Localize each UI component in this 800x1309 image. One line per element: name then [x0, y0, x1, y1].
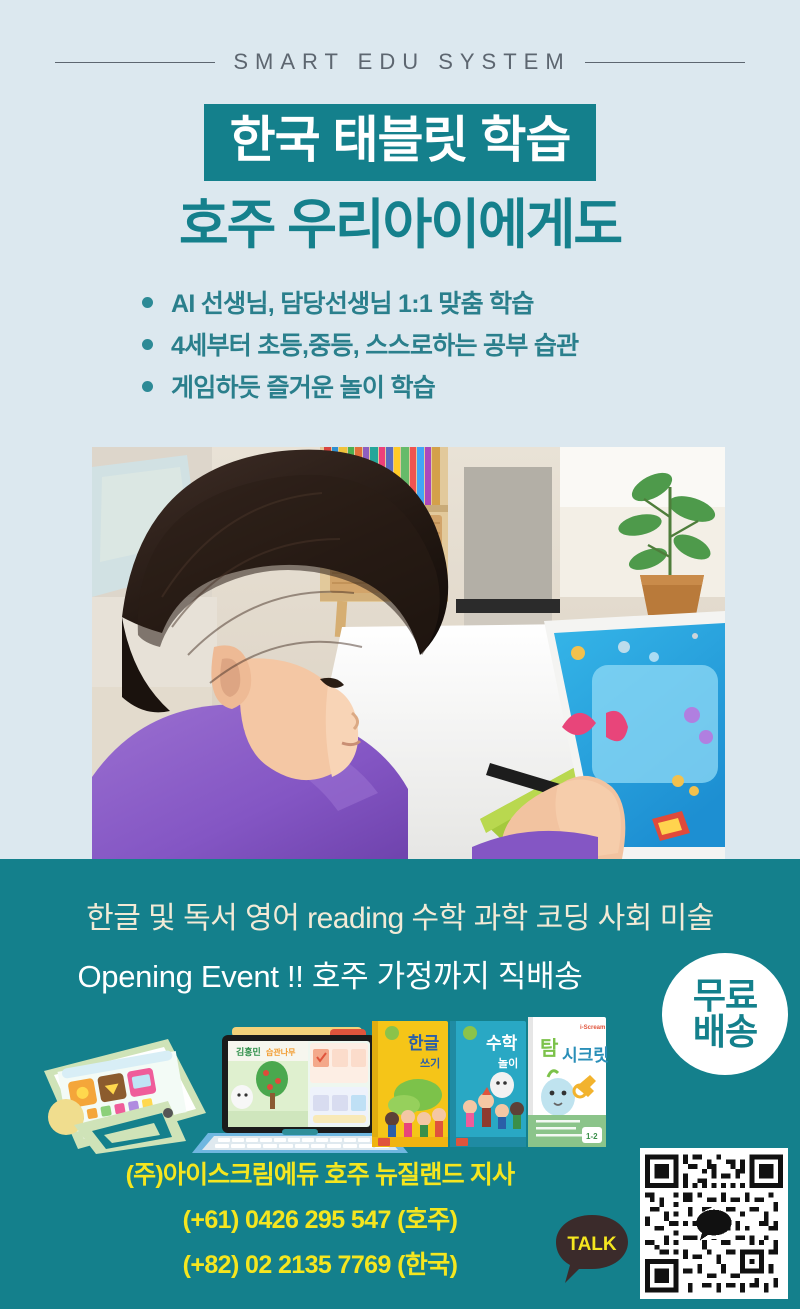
eyebrow-rule-left: [55, 62, 215, 63]
feature-bullet-list: AI 선생님, 담당선생님 1:1 맞춤 학습 4세부터 초등,중등, 스스로하…: [142, 288, 742, 414]
list-item: 게임하듯 즐거운 놀이 학습: [142, 372, 742, 404]
svg-text:탐: 탐: [540, 1037, 559, 1060]
bullet-dot-icon: [142, 297, 153, 308]
phone-kr[interactable]: (+82) 02 2135 7769 (한국): [0, 1245, 640, 1281]
kakaotalk-bubble-shape: TALK: [553, 1211, 631, 1285]
list-item: 4세부터 초등,중등, 스스로하는 공부 습관: [142, 330, 742, 362]
eyebrow-rule-right: [585, 62, 745, 63]
subjects-label: 한글 및 독서 영어 reading 수학 과학 코딩 사회 미술: [0, 893, 800, 937]
svg-text:i-Scream: i-Scream: [580, 1025, 605, 1031]
hero-photo-illustration: [92, 447, 725, 859]
svg-text:김홍민: 김홍민: [236, 1046, 261, 1057]
eyebrow-label: SMART EDU SYSTEM: [229, 49, 570, 75]
phone-au[interactable]: (+61) 0426 295 547 (호주): [0, 1200, 640, 1236]
hero-photo: [92, 447, 725, 859]
qr-code[interactable]: [640, 1148, 788, 1299]
list-item: AI 선생님, 담당선생님 1:1 맞춤 학습: [142, 288, 742, 320]
headline-boxed: 한국 태블릿 학습: [204, 104, 597, 181]
qr-code-matrix: [645, 1153, 783, 1294]
svg-text:수학: 수학: [486, 1034, 518, 1053]
svg-text:습관나무: 습관나무: [266, 1047, 296, 1057]
workbook-secret: i-Scream 탐 시크릿: [528, 1017, 609, 1147]
company-name: (주)아이스크림에듀 호주 뉴질랜드 지사: [0, 1155, 640, 1191]
headline-plain: 호주 우리아이에게도: [0, 197, 800, 254]
bullet-label: AI 선생님, 담당선생님 1:1 맞춤 학습: [171, 288, 534, 320]
svg-text:놀이: 놀이: [498, 1056, 518, 1070]
kakaotalk-icon[interactable]: TALK: [553, 1211, 631, 1285]
svg-text:한글: 한글: [408, 1034, 440, 1053]
poster-root: SMART EDU SYSTEM 한국 태블릿 학습 호주 우리아이에게도 AI…: [0, 0, 800, 1309]
svg-text:1-2: 1-2: [586, 1132, 598, 1141]
svg-text:시크릿: 시크릿: [562, 1046, 609, 1065]
headline-block: 한국 태블릿 학습 호주 우리아이에게도: [0, 104, 800, 254]
workbook-math: 수학 놀이: [450, 1021, 526, 1147]
bullet-dot-icon: [142, 339, 153, 350]
workbook-hangul: 한글 쓰기: [372, 1021, 448, 1147]
promo-panel: 한글 및 독서 영어 reading 수학 과학 코딩 사회 미술 Openin…: [0, 859, 800, 1309]
svg-text:쓰기: 쓰기: [420, 1056, 440, 1070]
kids-green-tablet: [44, 1039, 206, 1154]
bullet-label: 4세부터 초등,중등, 스스로하는 공부 습관: [171, 330, 578, 362]
product-strip-illustration: 김홍민 습관나무: [0, 1009, 800, 1154]
bullet-dot-icon: [142, 381, 153, 392]
contact-block: (주)아이스크림에듀 호주 뉴질랜드 지사 (+61) 0426 295 547…: [0, 1155, 640, 1290]
kakaotalk-label: TALK: [567, 1234, 617, 1255]
eyebrow-header: SMART EDU SYSTEM: [55, 44, 745, 80]
product-strip: 김홍민 습관나무: [0, 1009, 800, 1154]
bullet-label: 게임하듯 즐거운 놀이 학습: [171, 372, 435, 404]
event-label: Opening Event !! 호주 가정까지 직배송: [0, 951, 660, 996]
